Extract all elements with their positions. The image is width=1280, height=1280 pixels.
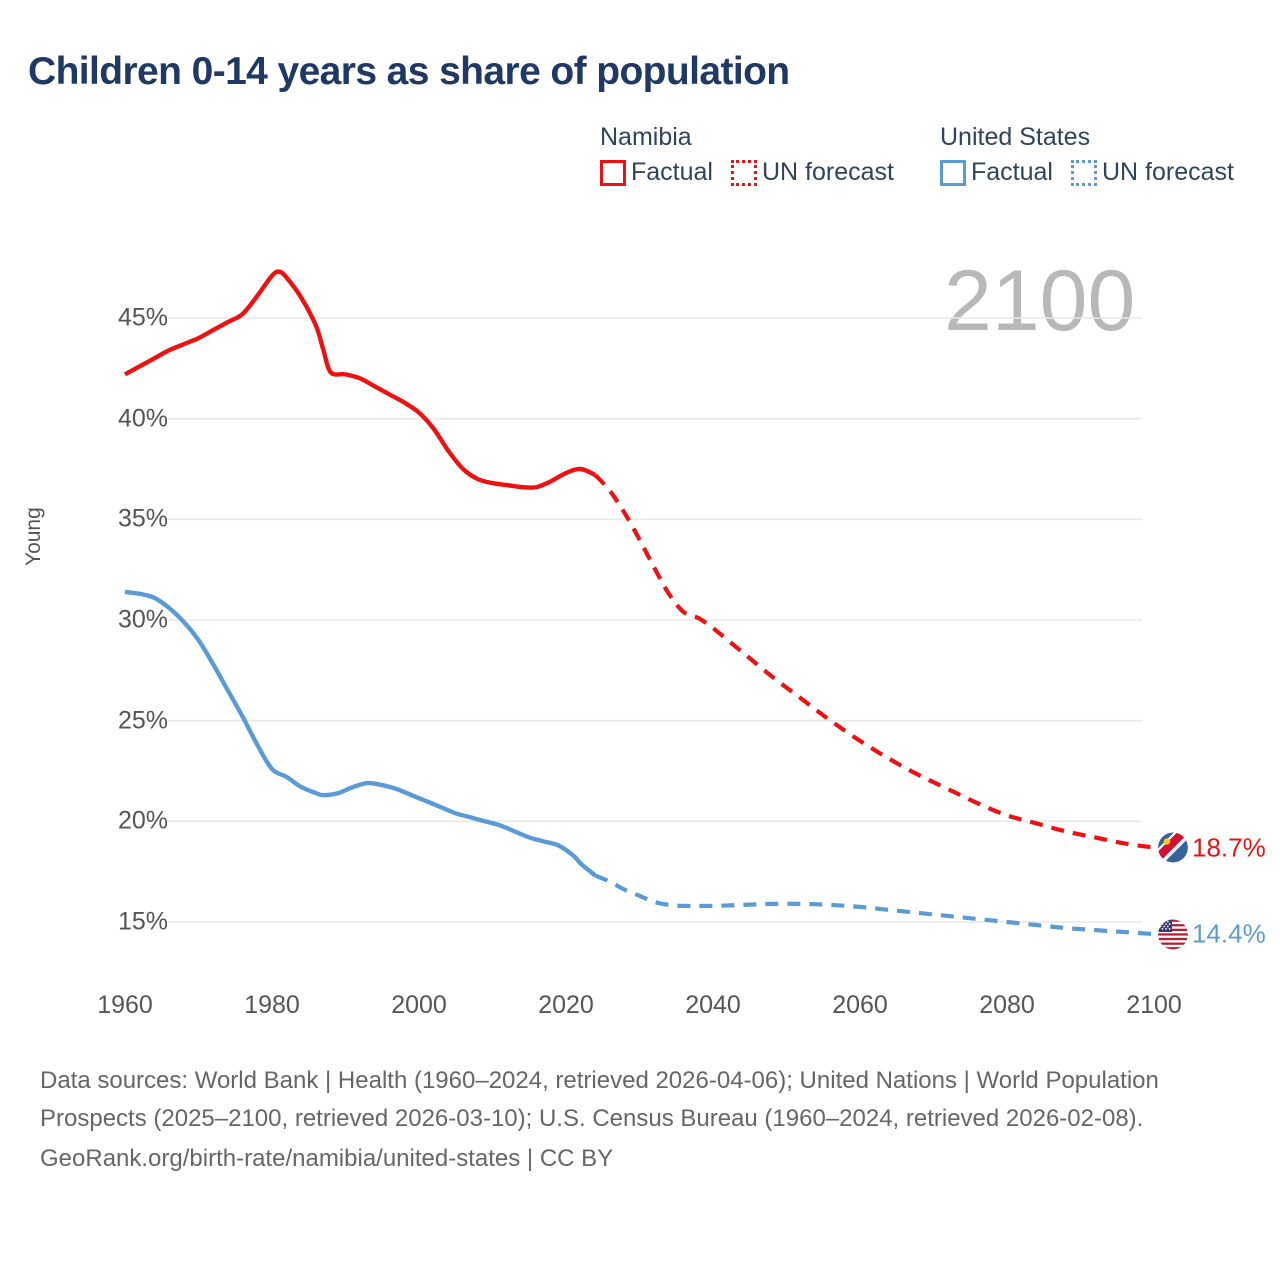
series-line-namibia-forecast [595,475,1154,847]
footer: Data sources: World Bank | Health (1960–… [40,1062,1220,1178]
endpoint-label-united-states: 14.4% [1158,919,1266,950]
chart-series-layer [125,272,1154,934]
y-axis-tick-label: 35% [76,505,168,534]
series-line-united-states-forecast [595,876,1154,934]
series-line-united-states-factual [125,592,595,876]
namibia-flag-icon [1158,833,1188,863]
x-axis-tick-label: 2100 [1126,991,1182,1020]
legend-item-label: Factual [631,158,713,187]
chart-page: Children 0-14 years as share of populati… [0,0,1280,1280]
x-axis-tick-label: 2000 [391,991,447,1020]
x-axis-tick-label: 2040 [685,991,741,1020]
chart-gridlines [168,318,1142,922]
legend-item-namibia-forecast[interactable]: UN forecast [731,158,894,187]
chart-legend: Namibia Factual UN forecast United State… [600,122,1260,202]
y-axis-label: Young [22,507,46,566]
y-axis-tick-label: 30% [76,606,168,635]
legend-item-label: Factual [971,158,1053,187]
y-axis-tick-label: 25% [76,706,168,735]
endpoint-value: 18.7% [1192,832,1266,863]
legend-country-united-states: United States [940,122,1234,152]
y-axis-tick-label: 40% [76,404,168,433]
us-flag-icon [1158,919,1188,949]
y-axis-tick-label: 45% [76,304,168,333]
legend-item-label: UN forecast [1102,158,1234,187]
legend-swatch-solid-icon [940,160,966,186]
y-axis-tick-label: 15% [76,908,168,937]
legend-group-namibia: Namibia Factual UN forecast [600,122,894,187]
page-title: Children 0-14 years as share of populati… [28,50,790,94]
legend-item-label: UN forecast [762,158,894,187]
watermark-year: 2100 [944,252,1135,351]
footer-data-sources: Data sources: World Bank | Health (1960–… [40,1062,1220,1138]
series-line-namibia-factual [125,272,595,488]
x-axis-tick-label: 1960 [97,991,153,1020]
legend-country-namibia: Namibia [600,122,894,152]
legend-item-usa-factual[interactable]: Factual [940,158,1053,187]
x-axis-tick-label: 2020 [538,991,594,1020]
legend-swatch-dotted-icon [731,160,757,186]
x-axis-tick-label: 2080 [979,991,1035,1020]
endpoint-value: 14.4% [1192,919,1266,950]
y-axis-tick-label: 20% [76,807,168,836]
legend-swatch-dotted-icon [1071,160,1097,186]
x-axis-tick-label: 1980 [244,991,300,1020]
legend-swatch-solid-icon [600,160,626,186]
legend-item-usa-forecast[interactable]: UN forecast [1071,158,1234,187]
legend-group-united-states: United States Factual UN forecast [940,122,1234,187]
endpoint-label-namibia: 18.7% [1158,832,1266,863]
footer-attribution[interactable]: GeoRank.org/birth-rate/namibia/united-st… [40,1140,1220,1178]
legend-item-namibia-factual[interactable]: Factual [600,158,713,187]
x-axis-tick-label: 2060 [832,991,888,1020]
